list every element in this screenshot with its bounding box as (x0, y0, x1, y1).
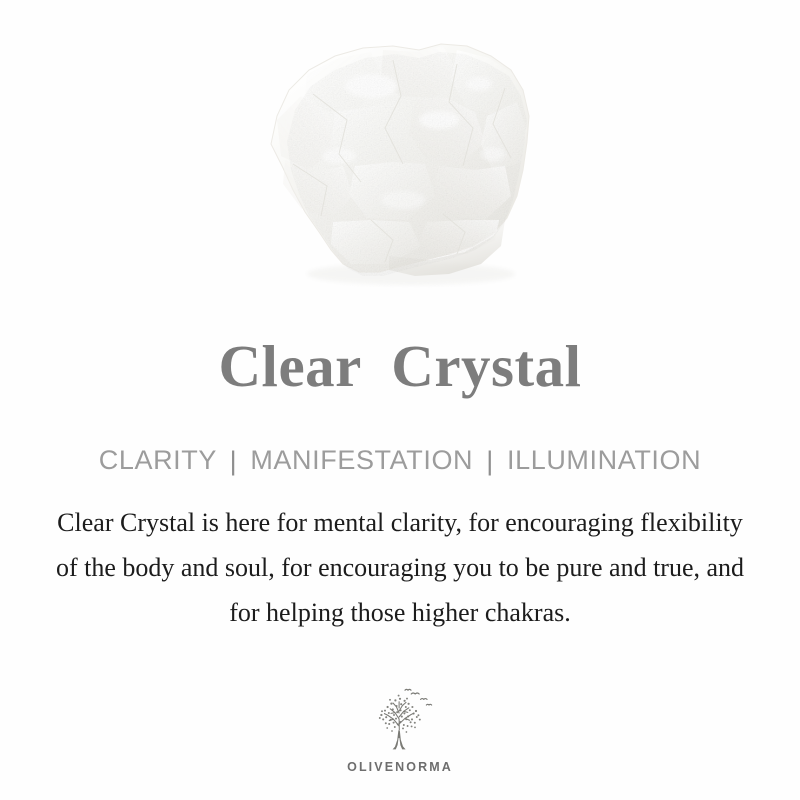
attribute-separator-1: | (225, 446, 243, 476)
tree-of-life-with-birds-icon (361, 686, 439, 758)
product-description: Clear Crystal is here for mental clarity… (50, 500, 750, 635)
brand-logo: OLIVENORMA (0, 686, 800, 774)
attribute-clarity: CLARITY (99, 445, 217, 475)
attribute-manifestation: MANIFESTATION (250, 445, 473, 475)
brand-name: OLIVENORMA (347, 760, 453, 774)
attribute-illumination: ILLUMINATION (507, 445, 701, 475)
raw-clear-quartz-crystal-icon (235, 0, 565, 300)
page-title: Clear Crystal (0, 336, 800, 398)
attribute-keywords: CLARITY | MANIFESTATION | ILLUMINATION (0, 444, 800, 476)
attribute-separator-2: | (481, 446, 499, 476)
product-info-card: Clear Crystal CLARITY | MANIFESTATION | … (0, 0, 800, 800)
product-image-container (0, 0, 800, 320)
